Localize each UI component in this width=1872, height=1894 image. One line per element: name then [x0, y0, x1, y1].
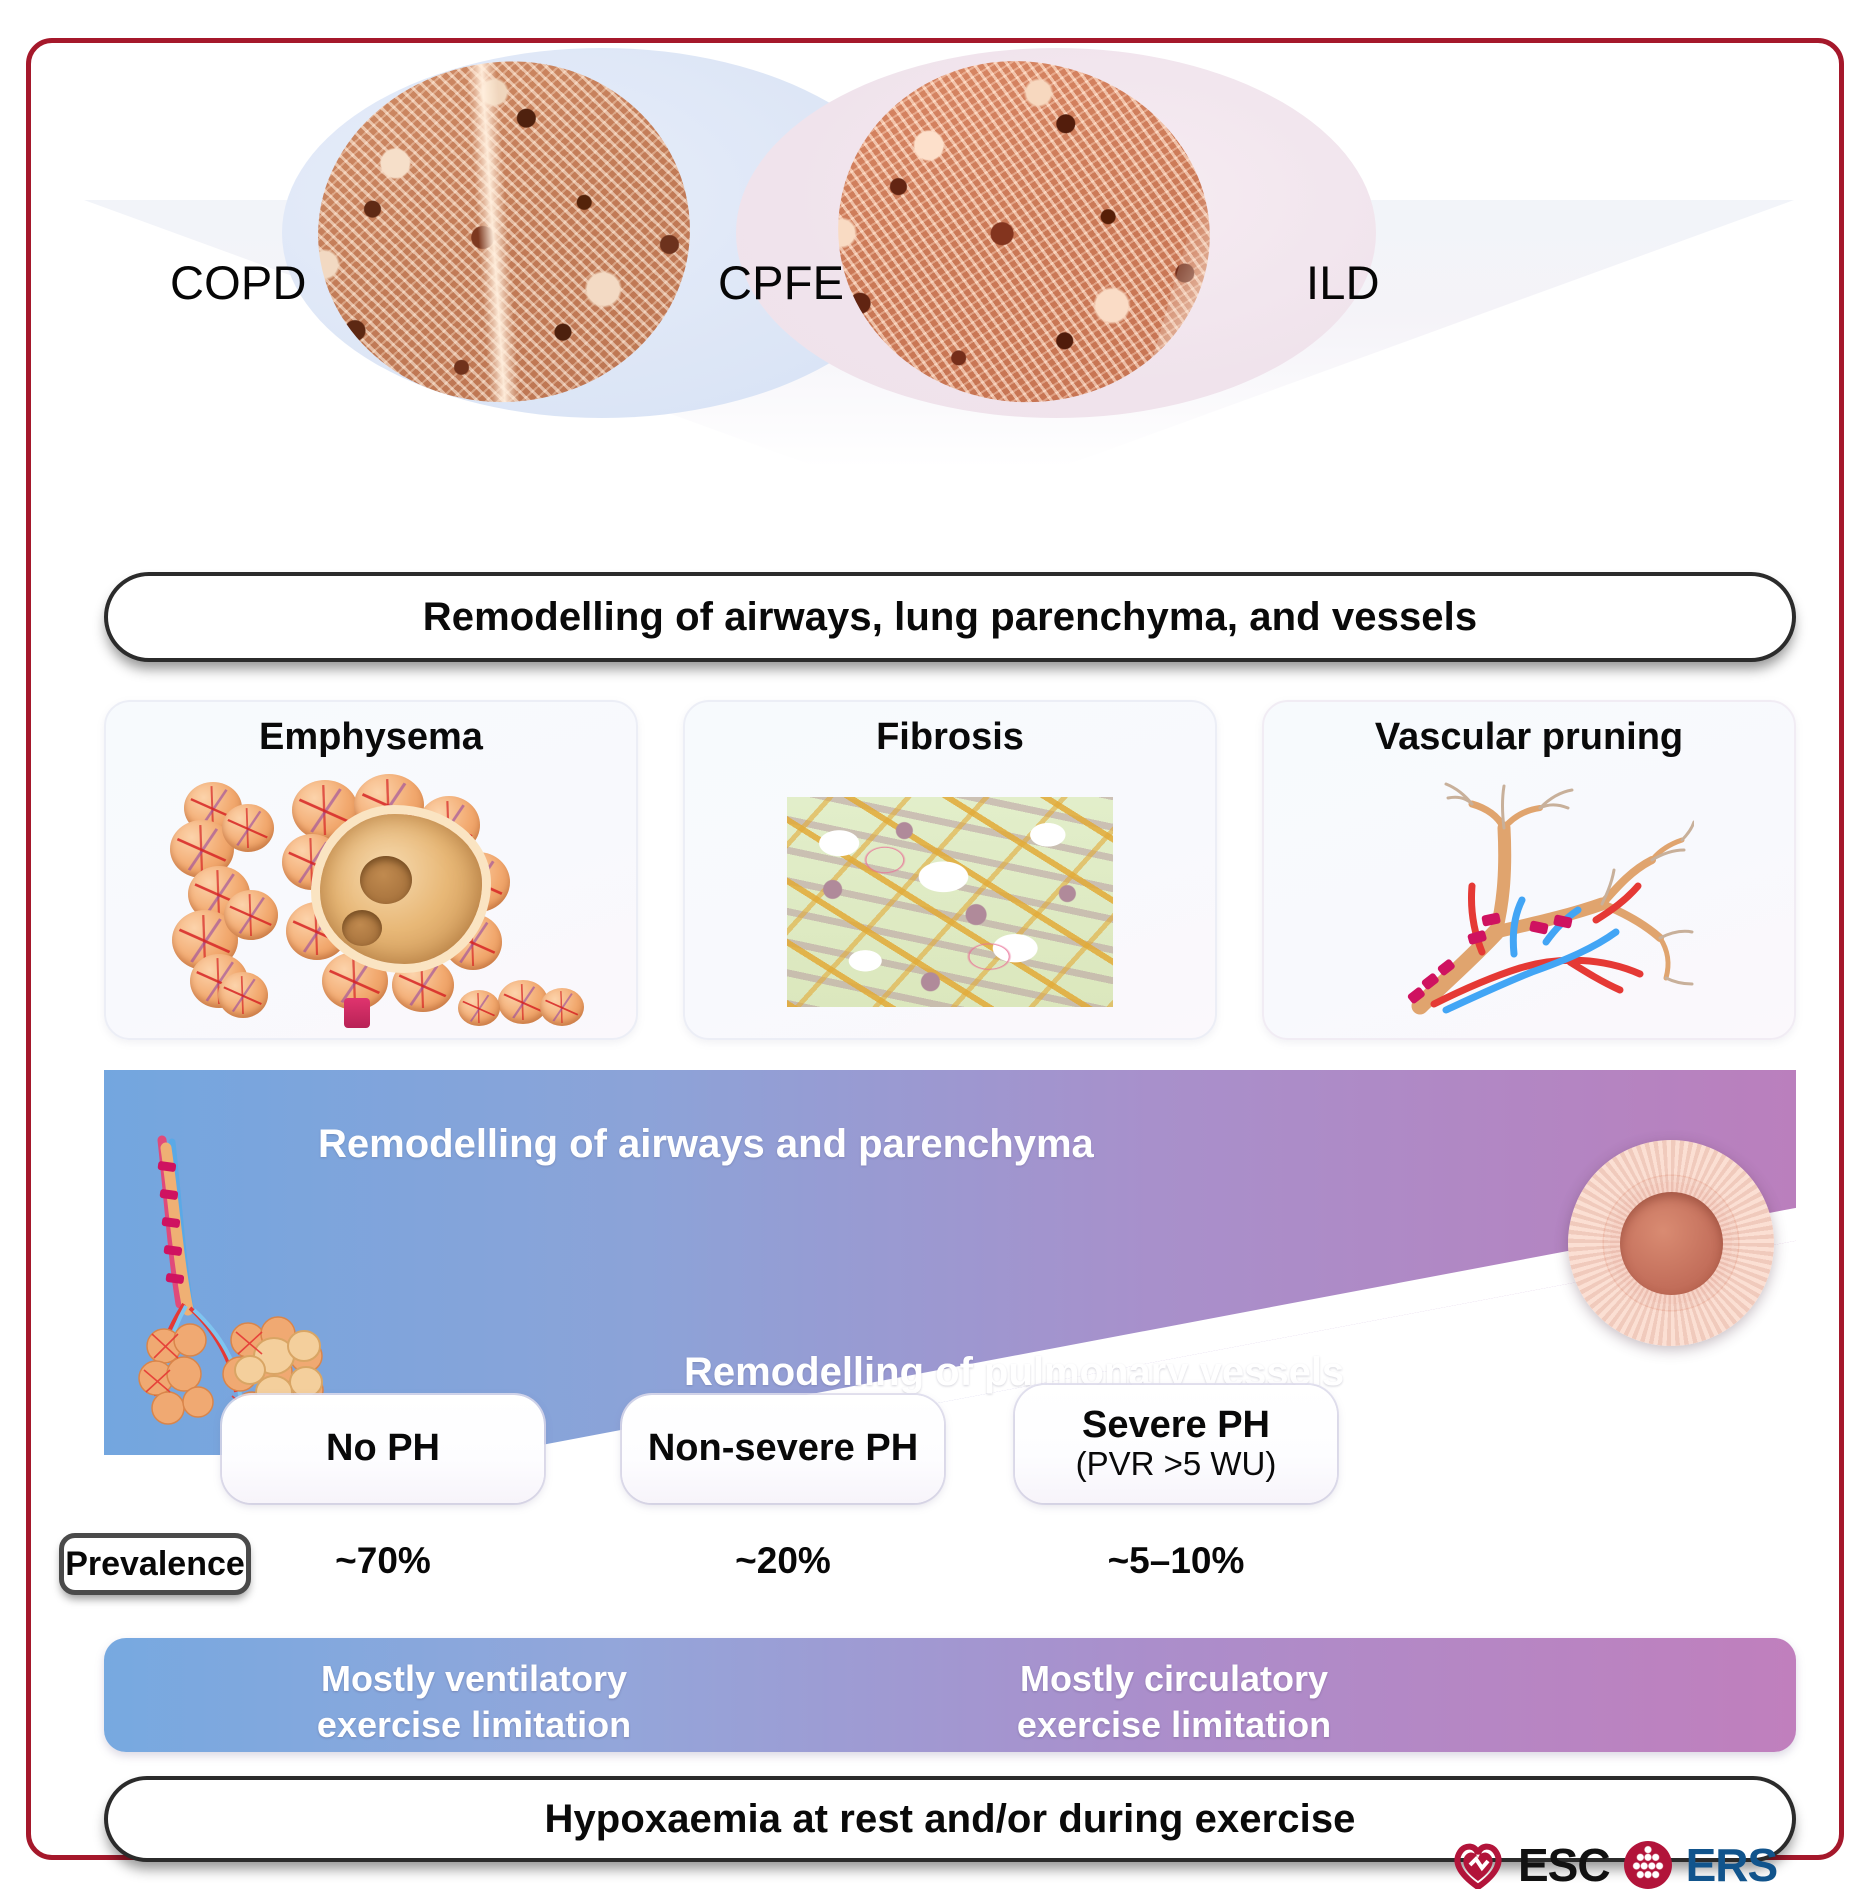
- venn-label-cpfe: CPFE: [718, 255, 844, 310]
- prevalence-label: Prevalence: [65, 1545, 245, 1584]
- ph-box-non-severe-ph-title: Non-severe PH: [648, 1429, 918, 1469]
- limitation-left-line2: exercise limitation: [264, 1702, 684, 1748]
- pulmonary-vessel-cross-section: [1568, 1140, 1774, 1346]
- limitation-right-line2: exercise limitation: [964, 1702, 1384, 1748]
- prevalence-value-no-ph: ~70%: [222, 1540, 544, 1582]
- remodelling-banner-text: Remodelling of airways, lung parenchyma,…: [423, 595, 1477, 640]
- society-logos: ESC ERS: [1452, 1838, 1777, 1892]
- ph-box-non-severe-ph: Non-severe PH: [622, 1395, 944, 1503]
- ild-lung-specimen-image: [821, 43, 1227, 420]
- feature-cards: Emphysema: [104, 700, 1796, 1040]
- ers-circle-icon: [1624, 1841, 1672, 1889]
- pruned-vascular-tree-illustration: [1264, 774, 1794, 1030]
- alveoli-emphysema-illustration: [106, 774, 636, 1030]
- card-emphysema: Emphysema: [104, 700, 638, 1040]
- prevalence-value-non-severe-ph: ~20%: [622, 1540, 944, 1582]
- ph-box-no-ph-title: No PH: [326, 1429, 440, 1469]
- venn-label-ild: ILD: [1306, 255, 1380, 310]
- hypoxaemia-banner-text: Hypoxaemia at rest and/or during exercis…: [544, 1797, 1355, 1842]
- remodelling-banner: Remodelling of airways, lung parenchyma,…: [104, 572, 1796, 662]
- card-fibrosis-title: Fibrosis: [685, 716, 1215, 759]
- card-emphysema-title: Emphysema: [106, 716, 636, 759]
- exercise-limitation-bar: Mostly ventilatory exercise limitation M…: [104, 1638, 1796, 1752]
- ph-box-no-ph: No PH: [222, 1395, 544, 1503]
- esc-logo-text: ESC: [1518, 1838, 1610, 1892]
- esc-heart-icon: [1452, 1841, 1504, 1889]
- ph-box-severe-ph-subtitle: (PVR >5 WU): [1076, 1446, 1277, 1482]
- limitation-left-line1: Mostly ventilatory: [264, 1656, 684, 1702]
- prevalence-value-severe-ph: ~5–10%: [1015, 1540, 1337, 1582]
- card-fibrosis: Fibrosis: [683, 700, 1217, 1040]
- ers-logo-text: ERS: [1686, 1838, 1778, 1892]
- ph-box-severe-ph-title: Severe PH: [1082, 1406, 1270, 1446]
- gradient-banner-upper-text: Remodelling of airways and parenchyma: [318, 1122, 1094, 1167]
- limitation-right: Mostly circulatory exercise limitation: [964, 1656, 1384, 1748]
- venn-label-copd: COPD: [170, 255, 307, 310]
- ph-box-severe-ph: Severe PH (PVR >5 WU): [1015, 1385, 1337, 1503]
- limitation-right-line1: Mostly circulatory: [964, 1656, 1384, 1702]
- venn-diagram: COPD CPFE ILD: [0, 0, 1872, 470]
- vascular-tree-svg: [1364, 782, 1694, 1022]
- alveolar-sac-illustration: [128, 1134, 388, 1434]
- card-vascular-pruning-title: Vascular pruning: [1264, 716, 1794, 759]
- copd-lung-specimen-image: [307, 49, 702, 414]
- fibrotic-tissue-histology-illustration: [685, 774, 1215, 1030]
- card-vascular-pruning: Vascular pruning: [1262, 700, 1796, 1040]
- limitation-left: Mostly ventilatory exercise limitation: [264, 1656, 684, 1748]
